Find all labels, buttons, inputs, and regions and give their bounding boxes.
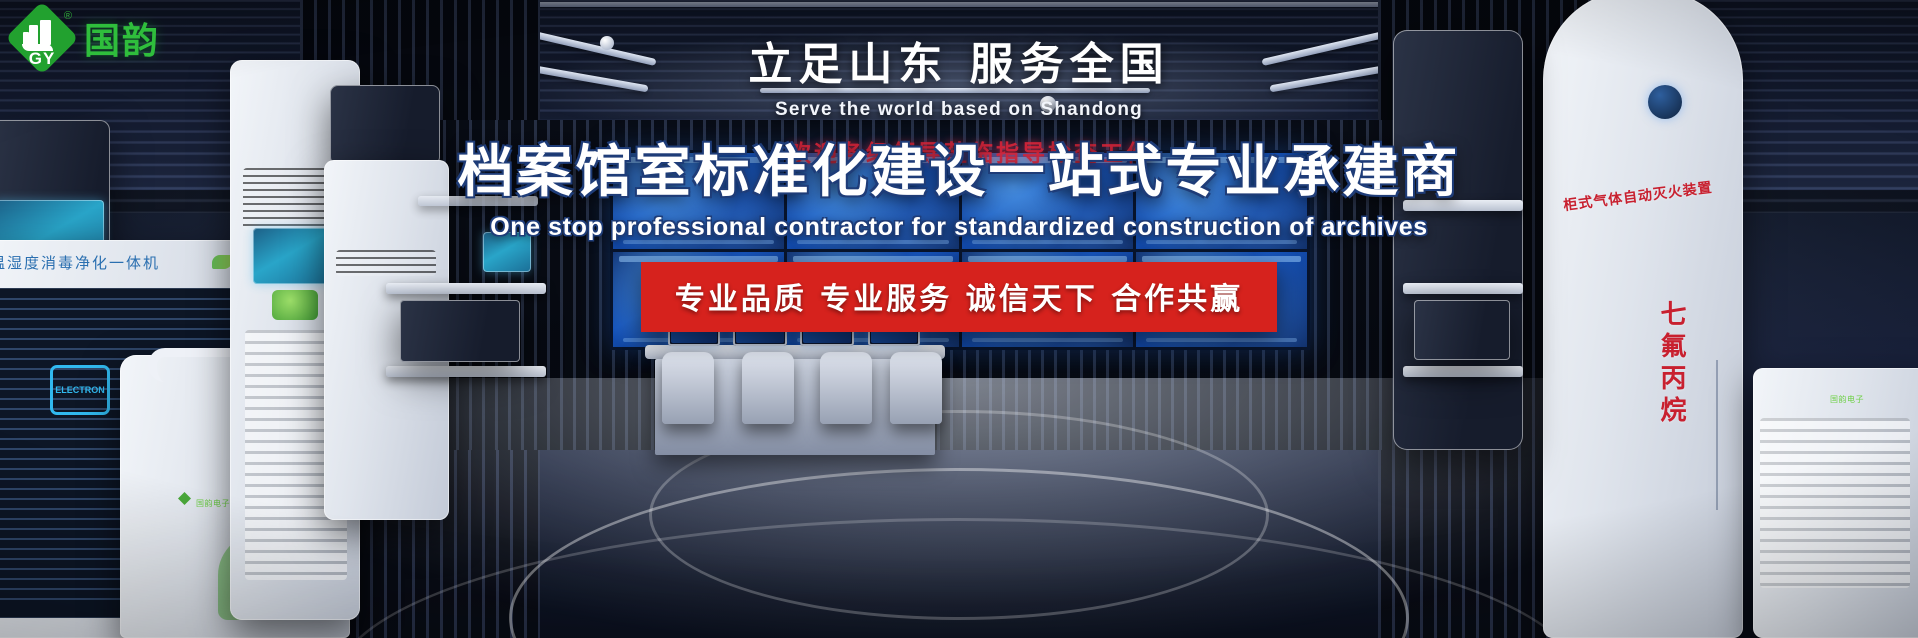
hero-copy: 立足山东 服务全国 Serve the world based on Shand… <box>0 40 1918 332</box>
headline-en: One stop professional contractor for sta… <box>0 213 1918 242</box>
right-unit-brand-label: 国韵电子 <box>1830 394 1864 405</box>
trolley-brand-label: 国韵电子 <box>196 498 230 509</box>
chair <box>820 352 872 424</box>
headline-cn: 档案馆室标准化建设一站式专业承建商 <box>0 143 1918 203</box>
registered-icon: ® <box>64 10 72 22</box>
tagline-en: Serve the world based on Shandong <box>0 99 1918 121</box>
logo-gy-text: GY <box>10 49 74 69</box>
logo-mark: GY ® <box>10 6 74 70</box>
chair <box>890 352 942 424</box>
cta-wrapper: 专业品质 专业服务 诚信天下 合作共赢 <box>0 262 1918 332</box>
chair <box>742 352 794 424</box>
brand-logo[interactable]: GY ® 国韵 <box>10 6 160 70</box>
chip-label: ELECTRON <box>53 368 107 412</box>
right-unit-louvers <box>1760 418 1910 588</box>
brand-name: 国韵 <box>84 12 160 64</box>
chair <box>662 352 714 424</box>
cta-slogan-button[interactable]: 专业品质 专业服务 诚信天下 合作共赢 <box>641 262 1277 332</box>
tagline-cn: 立足山东 服务全国 <box>0 40 1918 91</box>
wall-shelf <box>386 366 546 377</box>
hero-banner: 欢迎各级领导莅临指导检查工作 国韵电子 温湿度消毒净化一体机 ELECTRON … <box>0 0 1918 638</box>
right-shelf <box>1403 366 1523 377</box>
electron-chip-icon: ELECTRON <box>50 365 110 415</box>
